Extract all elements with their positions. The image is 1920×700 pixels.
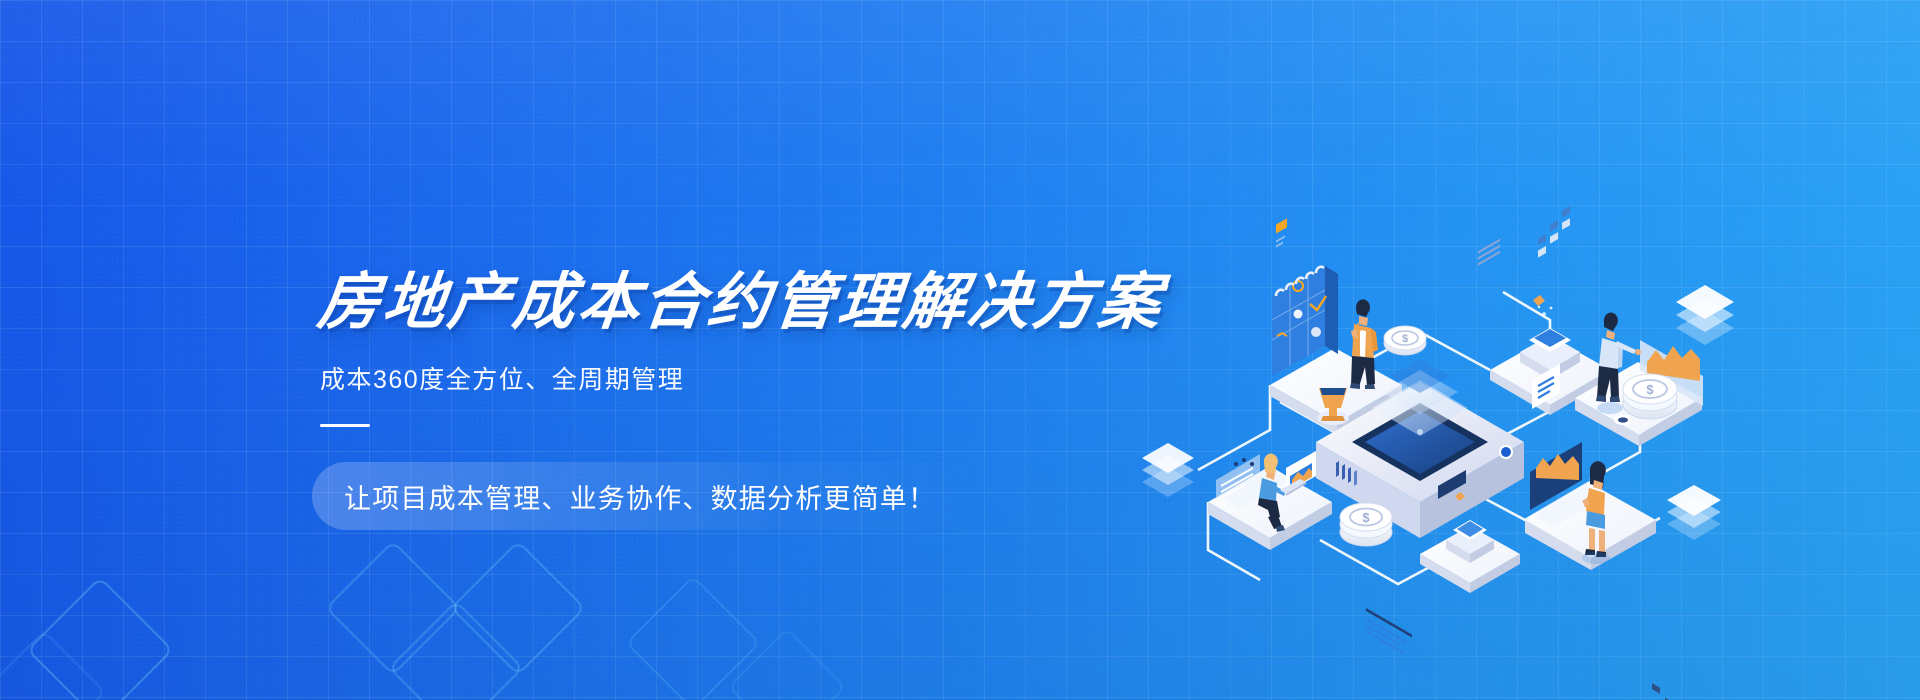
- diamond-shape: [450, 540, 586, 676]
- diamond-shape: [625, 575, 761, 700]
- hero-banner: $: [0, 0, 1920, 700]
- coin-stack-bottom: $: [1340, 503, 1392, 546]
- diamond-shape: [728, 628, 847, 700]
- central-server-platform: [1316, 239, 1524, 656]
- diamond-shape: [0, 630, 106, 700]
- diamond-shape: [388, 600, 524, 700]
- svg-text:$: $: [1402, 333, 1408, 345]
- stacked-diamond-tiles-left: [1142, 443, 1194, 497]
- diamond-shape: [26, 576, 173, 700]
- page-subtitle: 成本360度全方位、全周期管理: [320, 360, 1098, 396]
- diamond-shape: [325, 540, 461, 676]
- title-divider: [320, 424, 370, 427]
- coin-stack-top: $: [1384, 326, 1426, 355]
- page-title: 房地产成本合约管理解决方案: [315, 270, 1102, 336]
- hero-copy: 房地产成本合约管理解决方案 成本360度全方位、全周期管理: [318, 270, 1098, 427]
- stacked-diamond-tiles-right: [1676, 285, 1734, 345]
- tagline-pill: 让项目成本管理、业务协作、数据分析更简单！: [312, 462, 992, 530]
- tagline-text: 让项目成本管理、业务协作、数据分析更简单！: [344, 477, 936, 516]
- stacked-diamond-tiles-bottom-right: [1667, 485, 1721, 540]
- svg-text:$: $: [1362, 510, 1370, 525]
- coffee-cup-icon: [1614, 415, 1632, 425]
- hero-illustration: $: [1120, 180, 1720, 600]
- svg-text:$: $: [1646, 382, 1654, 397]
- coin-stack-right: $: [1623, 374, 1677, 419]
